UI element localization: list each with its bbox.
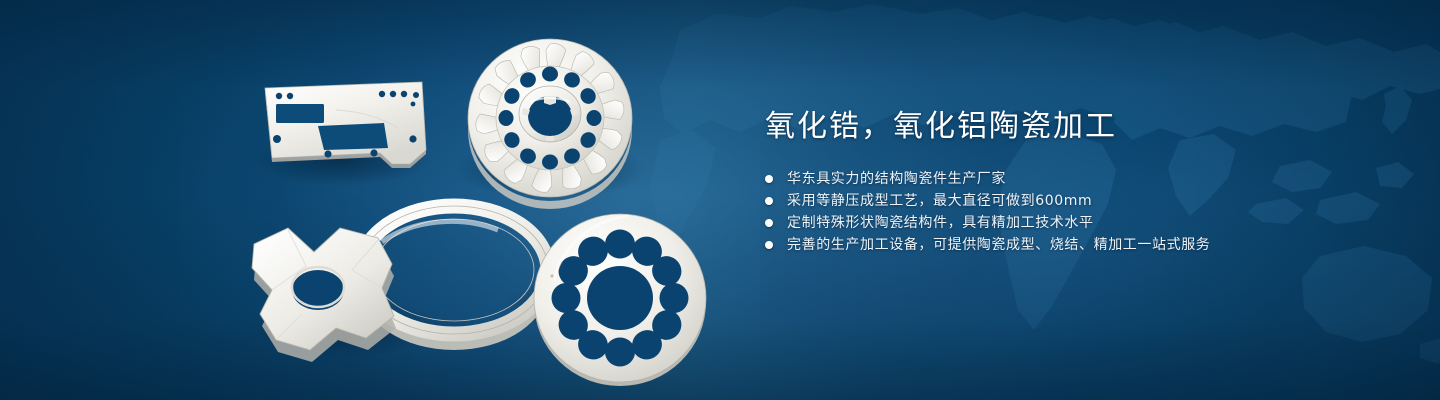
bullet-dot-icon (765, 219, 773, 227)
product-ceramic-impeller-disc (468, 39, 632, 209)
bullet-dot-icon (765, 241, 773, 249)
product-ceramic-machined-plate (265, 82, 426, 168)
feature-text: 定制特殊形状陶瓷结构件，具有精加工技术水平 (787, 212, 1094, 234)
banner-headline: 氧化锆，氧化铝陶瓷加工 (765, 108, 1385, 146)
feature-list: 华东具实力的结构陶瓷件生产厂家 采用等静压成型工艺，最大直径可做到600mm 定… (765, 168, 1385, 256)
feature-text: 华东具实力的结构陶瓷件生产厂家 (787, 168, 1006, 190)
feature-item: 采用等静压成型工艺，最大直径可做到600mm (765, 190, 1385, 212)
hero-banner: 氧化锆，氧化铝陶瓷加工 华东具实力的结构陶瓷件生产厂家 采用等静压成型工艺，最大… (0, 0, 1440, 400)
product-ceramic-cross-plate (252, 228, 396, 362)
feature-text: 采用等静压成型工艺，最大直径可做到600mm (787, 190, 1092, 212)
feature-item: 华东具实力的结构陶瓷件生产厂家 (765, 168, 1385, 190)
banner-copy: 氧化锆，氧化铝陶瓷加工 华东具实力的结构陶瓷件生产厂家 采用等静压成型工艺，最大… (765, 108, 1385, 256)
bullet-dot-icon (765, 197, 773, 205)
product-ceramic-perforated-disc (534, 214, 706, 386)
bullet-dot-icon (765, 175, 773, 183)
product-photo-cluster (232, 38, 722, 383)
feature-item: 定制特殊形状陶瓷结构件，具有精加工技术水平 (765, 212, 1385, 234)
feature-item: 完善的生产加工设备，可提供陶瓷成型、烧结、精加工一站式服务 (765, 234, 1385, 256)
feature-text: 完善的生产加工设备，可提供陶瓷成型、烧结、精加工一站式服务 (787, 234, 1210, 256)
